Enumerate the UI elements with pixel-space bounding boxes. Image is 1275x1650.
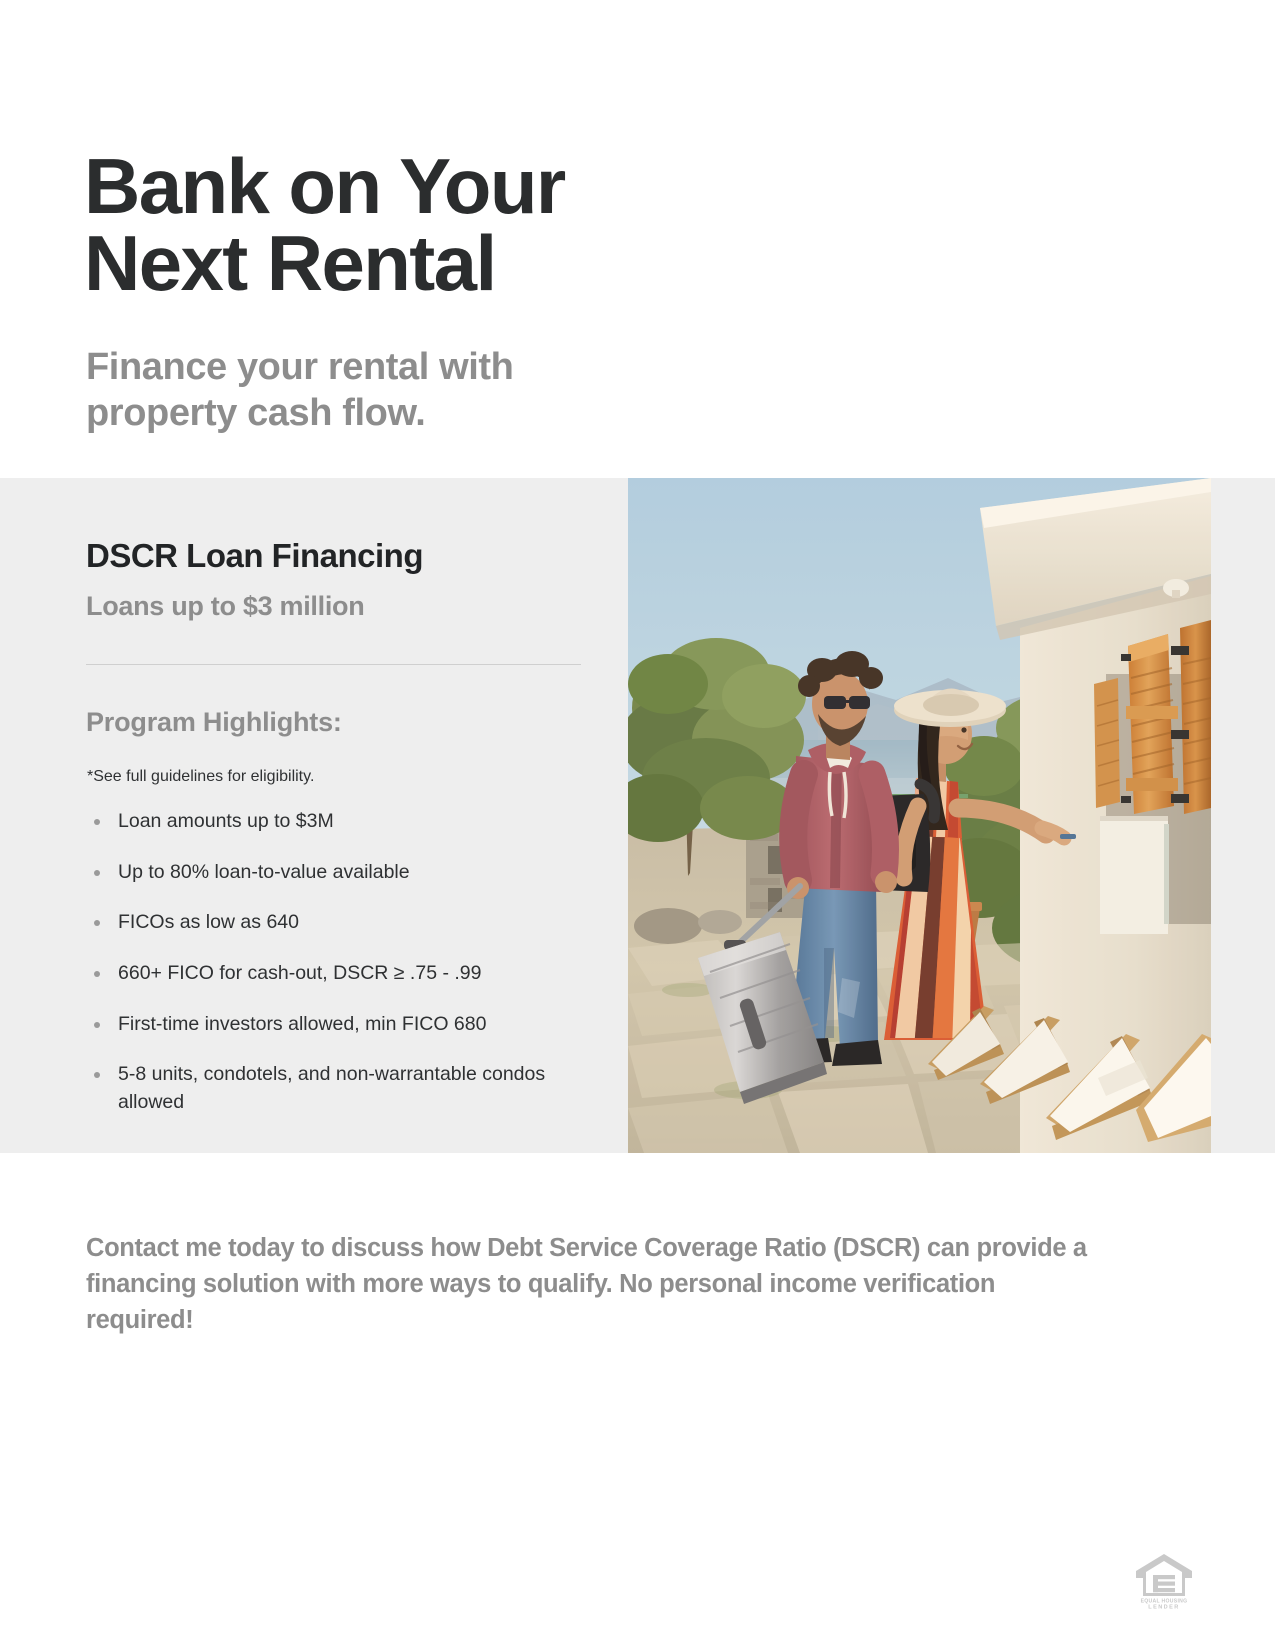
program-panel-content: DSCR Loan Financing Loans up to $3 milli…	[86, 478, 606, 1153]
section-divider	[86, 664, 581, 665]
list-item: Up to 80% loan-to-value available	[86, 859, 596, 887]
program-highlights-list: Loan amounts up to $3M Up to 80% loan-to…	[86, 808, 596, 1140]
hero-section: Bank on Your Next Rental Finance your re…	[0, 0, 1275, 478]
page-title: Bank on Your Next Rental	[84, 148, 784, 301]
page-subtitle: Finance your rental with property cash f…	[86, 344, 706, 437]
equal-housing-lender-logo: EQUAL HOUSING LENDER	[1133, 1548, 1195, 1610]
list-item: FICOs as low as 640	[86, 909, 596, 937]
contact-cta-text: Contact me today to discuss how Debt Ser…	[86, 1230, 1096, 1339]
photo-illustration	[628, 478, 1211, 1153]
rental-property-photo	[628, 478, 1211, 1153]
equal-housing-icon: EQUAL HOUSING LENDER	[1133, 1548, 1195, 1610]
list-item: 5-8 units, condotels, and non-warrantabl…	[86, 1061, 596, 1116]
program-title: DSCR Loan Financing	[86, 537, 423, 575]
list-item: 660+ FICO for cash-out, DSCR ≥ .75 - .99	[86, 960, 596, 988]
program-subtitle: Loans up to $3 million	[86, 591, 364, 622]
logo-line2: LENDER	[1148, 1605, 1179, 1611]
list-item: First-time investors allowed, min FICO 6…	[86, 1011, 596, 1039]
eligibility-disclaimer: *See full guidelines for eligibility.	[87, 768, 314, 786]
highlights-title: Program Highlights:	[86, 707, 342, 738]
list-item: Loan amounts up to $3M	[86, 808, 596, 836]
program-section: DSCR Loan Financing Loans up to $3 milli…	[0, 478, 1275, 1153]
